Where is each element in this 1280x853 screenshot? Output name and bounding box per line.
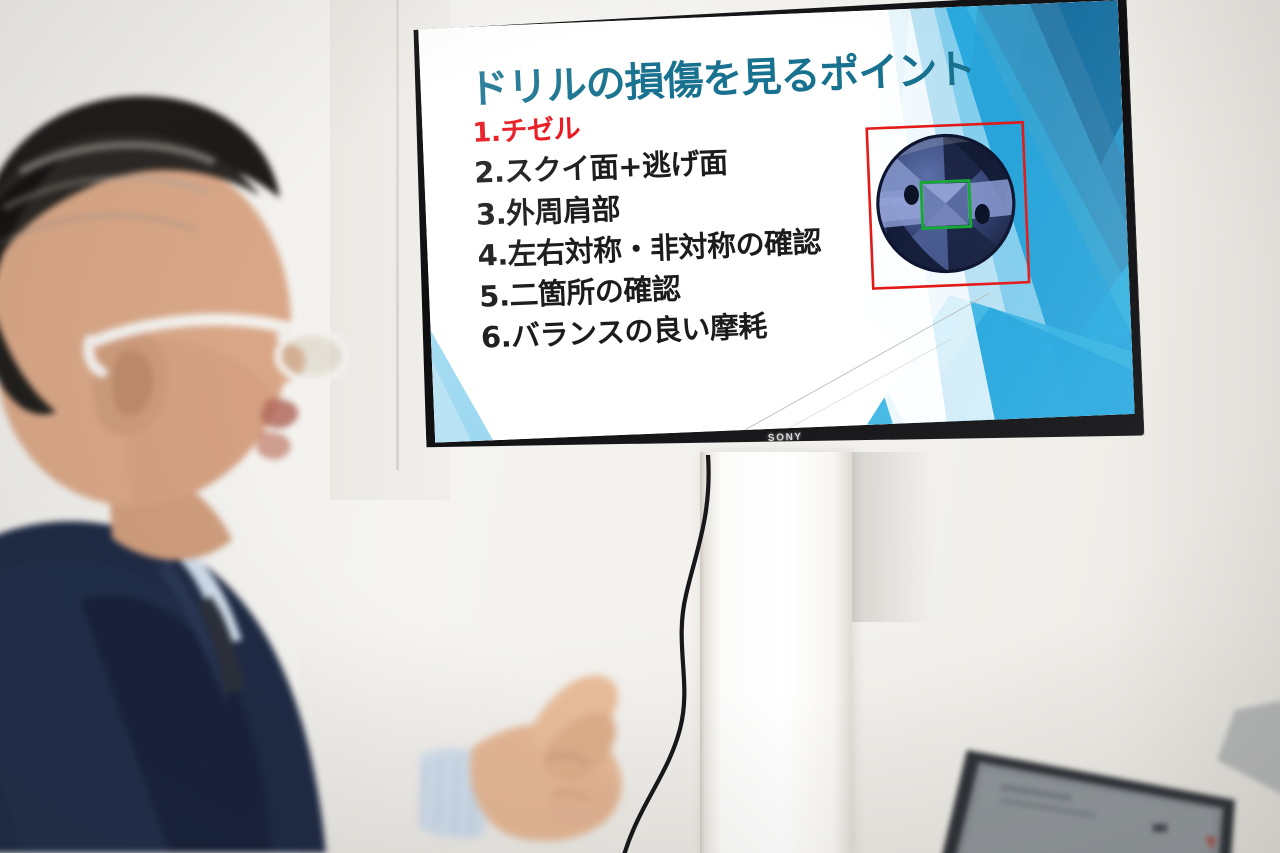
slide-bullet-list: 1.チゼル 2.スクイ面+逃げ面 3.外周肩部 4.左右対称・非対称の確認 5.…	[472, 97, 912, 359]
presentation-slide: ドリルの損傷を見るポイント 1.チゼル 2.スクイ面+逃げ面 3.外周肩部 4.…	[418, 0, 1134, 442]
tv-mount-column	[700, 452, 852, 853]
tv-screen[interactable]: ドリルの損傷を見るポイント 1.チゼル 2.スクイ面+逃げ面 3.外周肩部 4.…	[418, 0, 1134, 442]
sony-brand-logo: SONY	[768, 432, 803, 444]
photo-scene: ドリルの損傷を見るポイント 1.チゼル 2.スクイ面+逃げ面 3.外周肩部 4.…	[0, 0, 1280, 853]
wall-seam	[396, 0, 399, 470]
television[interactable]: ドリルの損傷を見るポイント 1.チゼル 2.スクイ面+逃げ面 3.外周肩部 4.…	[409, 0, 1167, 480]
mount-shadow	[852, 452, 932, 622]
drill-point-figure	[850, 111, 1067, 297]
tv-mount-column-edge	[700, 452, 705, 853]
drill-point-svg	[850, 111, 1067, 297]
tv-bezel: ドリルの損傷を見るポイント 1.チゼル 2.スクイ面+逃げ面 3.外周肩部 4.…	[409, 0, 1145, 465]
